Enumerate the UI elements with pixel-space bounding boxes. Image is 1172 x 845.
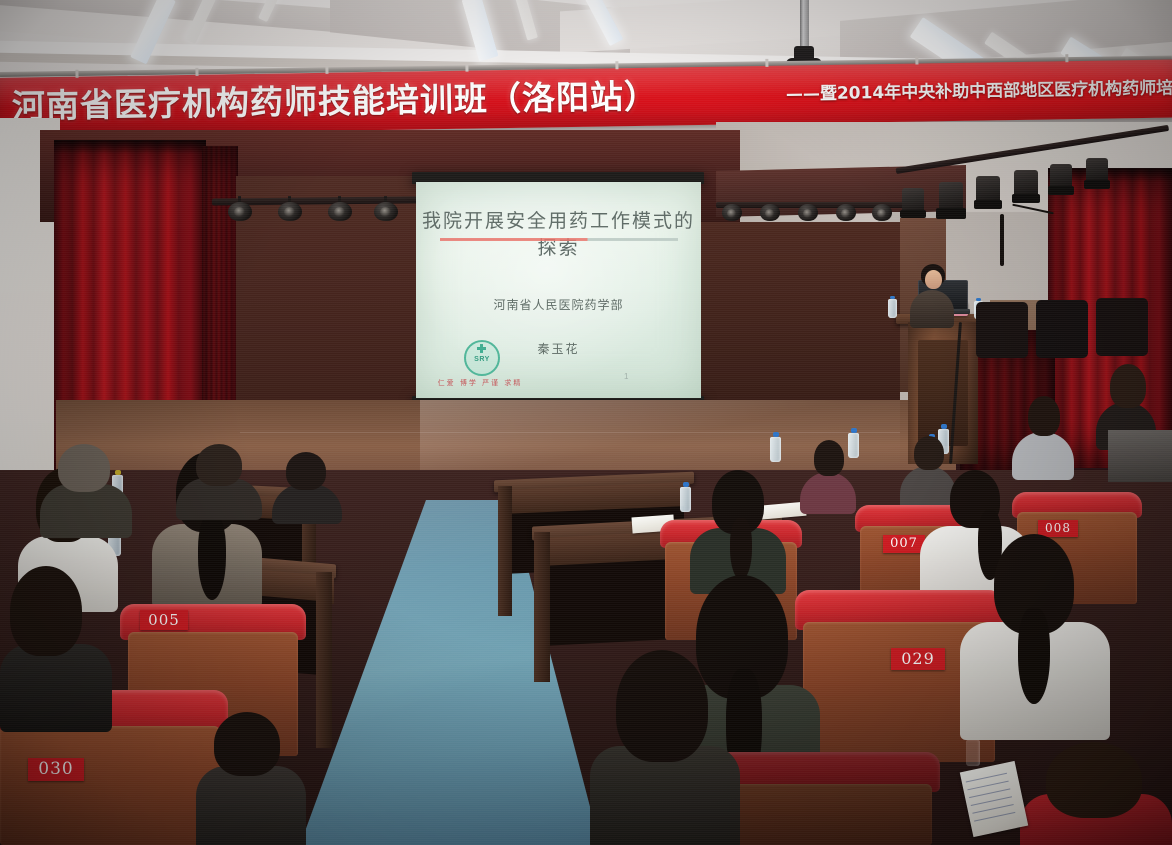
audience-person-front-right xyxy=(960,534,1110,734)
slide-presenter-name: 秦玉花 xyxy=(416,340,701,357)
stage-fresnel-5 xyxy=(1048,164,1074,196)
stage-chair-1 xyxy=(976,302,1028,358)
audience-person-far-2 xyxy=(1012,396,1074,476)
banner-clip-4 xyxy=(465,64,468,72)
stage-spotlight-6 xyxy=(760,204,780,223)
armrest-right xyxy=(1108,430,1172,482)
slide-title: 我院开展安全用药工作模式的探索 xyxy=(416,206,701,260)
slide-page-number: 1 xyxy=(624,372,628,381)
seat-number-030: 030 xyxy=(28,758,84,781)
crumpled-bottle xyxy=(966,740,980,766)
banner-main-title: 河南省医疗机构药师技能培训班（洛阳站） xyxy=(12,72,659,132)
audience-person-left-3 xyxy=(40,444,132,534)
banner-clip-7 xyxy=(915,57,918,65)
banner-clip-1 xyxy=(75,70,78,78)
stage-fresnel-3 xyxy=(974,176,1002,210)
audience-person-far-3 xyxy=(800,440,856,510)
stage-fresnel-4 xyxy=(1012,170,1040,204)
seat-number-005: 005 xyxy=(140,610,188,630)
seat-number-007: 007 xyxy=(883,535,925,553)
audience-person-center-foreground xyxy=(590,650,740,845)
seat-number-029: 029 xyxy=(891,648,945,670)
stage-spotlight-8 xyxy=(836,204,856,223)
stage-spotlight-5 xyxy=(722,204,742,223)
stage-chair-3 xyxy=(1096,298,1148,356)
stage-fresnel-2 xyxy=(936,182,966,220)
stage-spotlight-3 xyxy=(328,200,352,222)
banner-clip-6 xyxy=(765,59,768,67)
speaker-presenter xyxy=(910,262,956,326)
stage-spotlight-4 xyxy=(374,200,398,222)
projection-screen: 我院开展安全用药工作模式的探索 河南省人民医院药学部 秦玉花 SRY 仁爱 博学… xyxy=(416,182,701,398)
desk-bottle-3 xyxy=(770,432,781,462)
stage-chair-2 xyxy=(1036,300,1088,358)
stage-floor-seam-1 xyxy=(240,432,900,433)
audience-person-left-foreground xyxy=(0,566,112,726)
curtain-header-left xyxy=(54,140,206,154)
hospital-logo-motto: 仁爱 博学 严谨 求精 xyxy=(432,378,528,388)
banner-clip-2 xyxy=(195,68,198,76)
audience-person-left-foreground-2 xyxy=(196,712,306,845)
stage-spotlight-7 xyxy=(798,204,818,223)
banner-clip-3 xyxy=(325,66,328,74)
audience-person-left-4 xyxy=(176,444,262,516)
speaker-torso xyxy=(910,290,954,328)
banner-clip-5 xyxy=(615,61,618,69)
stage-spotlight-2 xyxy=(278,200,302,222)
audience-person-left-5 xyxy=(272,452,342,522)
stage-fresnel-6 xyxy=(1084,158,1110,190)
stage-fresnel-1 xyxy=(900,188,926,218)
banner-clip-8 xyxy=(1065,54,1068,62)
slide-title-underline xyxy=(440,238,678,241)
stage-spotlight-9 xyxy=(872,204,892,223)
conference-photo: 河南省医疗机构药师技能培训班（洛阳站） ——暨2014年中央补助中西部地区医疗机… xyxy=(0,0,1172,845)
microphone-stand xyxy=(1000,214,1004,266)
speaker-face xyxy=(925,270,942,289)
audience-person-ponytail-1 xyxy=(690,470,786,590)
projector-mount-rod xyxy=(800,0,809,50)
hospital-logo-icon: SRY xyxy=(464,340,500,376)
podium-water-bottle-left xyxy=(888,296,897,318)
stage-spotlight-1 xyxy=(228,200,252,222)
audience-person-reading-note xyxy=(1020,742,1172,845)
hospital-logo-letters: SRY xyxy=(466,356,498,363)
slide-organization: 河南省人民医院药学部 xyxy=(416,296,701,313)
